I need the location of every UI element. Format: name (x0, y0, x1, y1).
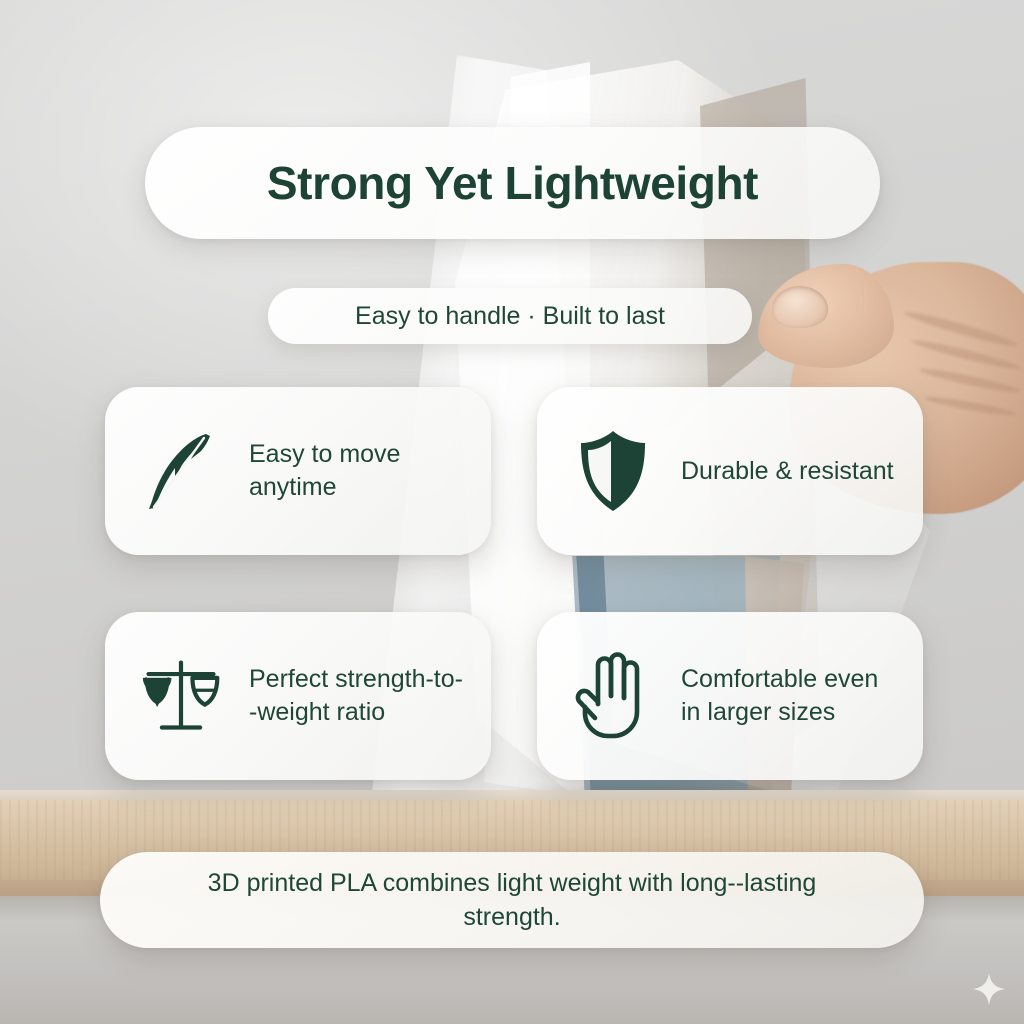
feature-card-durable[interactable]: Durable & resistant (537, 387, 923, 555)
feature-label: Comfortable even in larger sizes (681, 663, 901, 729)
feature-card-strength-to-weight[interactable]: Perfect strength-to--weight ratio (105, 612, 491, 780)
footer-pill: 3D printed PLA combines light weight wit… (100, 852, 924, 948)
sparkle-icon (972, 972, 1006, 1006)
feature-card-comfortable[interactable]: Comfortable even in larger sizes (537, 612, 923, 780)
feather-icon (139, 425, 223, 517)
page-subtitle: Easy to handle · Built to last (355, 302, 665, 331)
feature-label: Easy to move anytime (249, 438, 469, 504)
feature-label: Durable & resistant (681, 455, 894, 488)
feature-card-grid: Easy to move anytime Durable & resistant (105, 387, 923, 787)
page-title: Strong Yet Lightweight (267, 156, 758, 210)
feature-label: Perfect strength-to--weight ratio (249, 663, 469, 729)
open-hand-icon (571, 650, 655, 742)
feature-card-easy-to-move[interactable]: Easy to move anytime (105, 387, 491, 555)
title-pill: Strong Yet Lightweight (145, 127, 880, 239)
subtitle-pill: Easy to handle · Built to last (268, 288, 752, 344)
footer-text: 3D printed PLA combines light weight wit… (162, 866, 862, 934)
infographic-canvas: Strong Yet Lightweight Easy to handle · … (0, 0, 1024, 1024)
balance-scale-icon (139, 650, 223, 742)
shield-icon (571, 425, 655, 517)
